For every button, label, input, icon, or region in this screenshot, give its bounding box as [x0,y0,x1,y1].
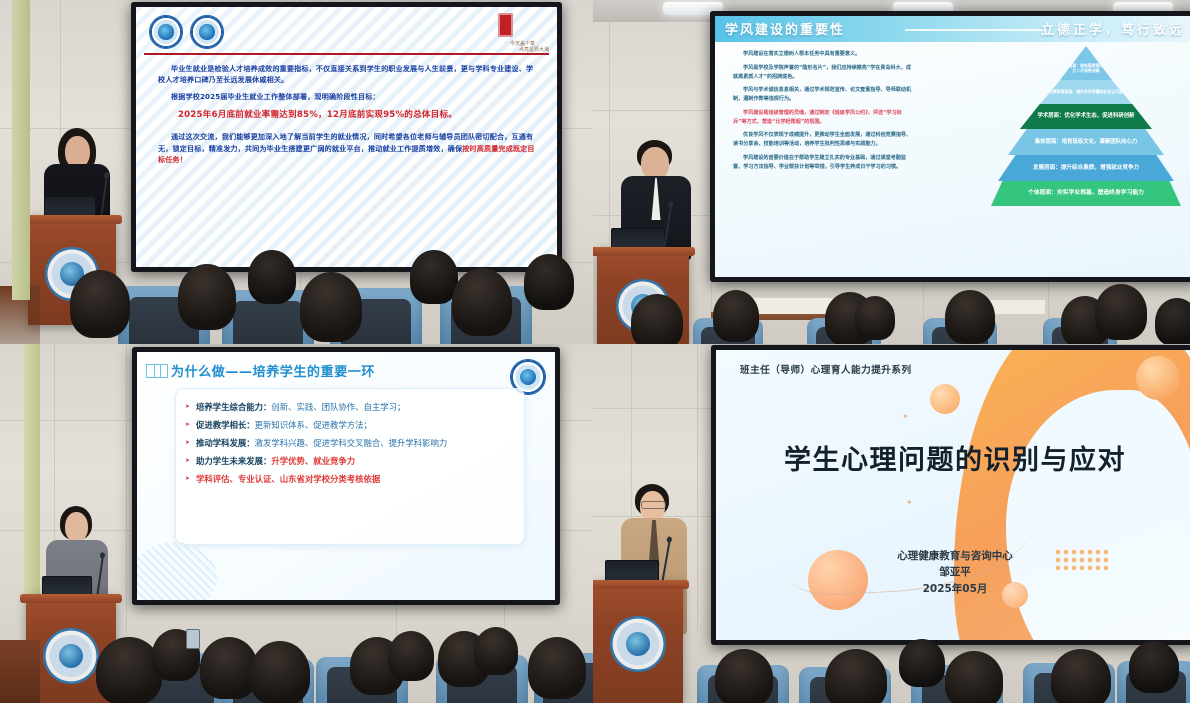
slide1-body: 毕业生就业是检验人才培养成效的重要指标，不仅直接关系到学生的职业发展与人生前景，… [158,63,537,171]
slide1-para-1: 毕业生就业是检验人才培养成效的重要指标，不仅直接关系到学生的职业发展与人生前景，… [158,63,537,86]
podium-top [593,247,695,256]
laptop-screen [605,560,659,582]
photo-collage: 今天盖个章 点亮星辰大海 毕业生就业是检验人才培养成效的重要指标，不仅直接关系到… [0,0,1190,703]
audience-area-4 [593,593,1190,703]
panel-top-left: 今天盖个章 点亮星辰大海 毕业生就业是检验人才培养成效的重要指标，不仅直接关系到… [0,0,593,344]
presenter-laptop-4 [605,560,659,582]
college-logo-icon [190,15,224,49]
decorative-blob [1136,356,1180,400]
slide-why-do-it: 为什么做——培养学生的重要一环 培养学生综合能力：创新、实践、团队协作、自主学习… [137,352,555,600]
pyramid-level-5: 发展层面：提升综合素质，增强就业竞争力 [998,155,1174,181]
audience-head [1155,298,1190,344]
audience-head [524,254,574,310]
pyramid-level-2: 校果院管层面：提升办学质量和社会认可度 [1040,80,1132,104]
bullet-lead: 培养学生综合能力： [196,402,271,412]
eyeglasses-icon [641,501,666,509]
list-item: 学科评估、专业认证、山东省对学校分类考核依据 [196,473,508,486]
audience-head [300,272,362,342]
audience-head [1095,284,1147,340]
panel-bottom-right: ✦ ✦ 班主任（导师）心理育人能力提升系列 学生心理问题的识别与应对 心理健康教… [593,344,1190,703]
podium-top [593,580,689,589]
book-icon [146,364,166,376]
audience-head [248,250,296,304]
bullet-rest: 创新、实践、团队协作、自主学习； [271,402,405,412]
s2-para-2: 学风是学校及学院声誉的“隐形名片”，我们应持续擦亮“学在青岛科大，成就高素质人才… [733,64,913,82]
s2-para-1: 学风建设在落实立德树人根本任务中具有重要意义。 [733,50,913,59]
seal-caption-2: 点亮星辰大海 [519,46,549,53]
banner-motto: 立德正学，笃行致远 [1041,19,1185,38]
decorative-hatch [137,542,217,600]
banner-divider [905,29,1045,31]
slide3-title: 为什么做——培养学生的重要一环 [171,361,375,380]
audience-head [528,637,586,699]
s2-para-3: 学风与学术诚信息息相关，通过学术规范宣传、论文查重指导、导师联动机制，遏制作弊等… [733,86,913,104]
bullet-rest: 更新知识体系、促进教学方法； [255,420,372,430]
red-seal-icon [498,13,513,37]
audience-head [178,264,236,330]
audience-head [1129,641,1179,693]
lecture-hall-room-3: 为什么做——培养学生的重要一环 培养学生综合能力：创新、实践、团队协作、自主学习… [0,344,593,703]
lecture-hall-room-2: 学风建设的重要性 立德正学，笃行致远 学风建设在落实立德树人根本任务中具有重要意… [593,0,1190,344]
audience-head [410,250,458,304]
list-item: 助力学生未来发展：升学优势、就业竞争力 [196,455,508,468]
display-screen-3: 为什么做——培养学生的重要一环 培养学生综合能力：创新、实践、团队协作、自主学习… [132,347,560,605]
audience-area-3 [0,593,593,703]
face [65,512,88,542]
slide2-banner: 学风建设的重要性 立德正学，笃行致远 [715,16,1190,42]
list-item: 推动学科发展：激发学科兴趣、促进学科交叉融合、提升学科影响力 [196,437,508,450]
header-rule [144,53,549,55]
pyramid-level-3: 学术层面：优化学术生态，促进科研创新 [1020,104,1152,129]
slide1-highlight: 2025年6月底前就业率需达到85%，12月底前实现95%的总体目标。 [158,109,537,123]
audience-head [715,649,773,703]
audience-head [945,290,995,344]
audience-head [899,639,945,687]
wall-column [24,344,40,604]
slide4-kicker: 班主任（导师）心理育人能力提升系列 [740,362,912,376]
audience-head [388,631,434,681]
decorative-blob [930,384,960,414]
audience-head [631,294,683,344]
sparkle-icon: ✦ [906,498,913,507]
slide1-para-2: 根据学校2025届毕业生就业工作整体部署，现明确阶段性目标： [158,91,537,102]
panel-bottom-left: 为什么做——培养学生的重要一环 培养学生综合能力：创新、实践、团队协作、自主学习… [0,344,593,703]
audience-head [250,641,310,703]
bullet-list: 培养学生综合能力：创新、实践、团队协作、自主学习； 促进教学相长：更新知识体系、… [176,389,524,486]
slide2-text-column: 学风建设在落实立德树人根本任务中具有重要意义。 学风是学校及学院声誉的“隐形名片… [733,50,913,176]
bullet-lead: 推动学科发展： [196,438,255,448]
panel-top-right: 学风建设的重要性 立德正学，笃行致远 学风建设在落实立德树人根本任务中具有重要意… [593,0,1190,344]
bullet-lead: 促进教学相长： [196,420,255,430]
audience-head [474,627,518,675]
audience-head [1051,649,1111,703]
pyramid-level-1: 战略层面：服务国家需求，助力人才培养战略 [1060,46,1112,80]
bullet-lead: 助力学生未来发展： [196,456,271,466]
lecture-hall-room-1: 今天盖个章 点亮星辰大海 毕业生就业是检验人才培养成效的重要指标，不仅直接关系到… [0,0,593,344]
slide4-credits: 心理健康教育与咨询中心 邹亚平 2025年05月 [716,548,1190,597]
sparkle-icon: ✦ [902,412,909,421]
audience-head [945,651,1003,703]
display-screen-2: 学风建设的重要性 立德正学，笃行致远 学风建设在落实立德树人根本任务中具有重要意… [710,11,1190,282]
org-name: 心理健康教育与咨询中心 [716,548,1190,564]
s2-para-4: 学风建设是班级管理的灵魂，通过制定《班级学风公约》、评选“学习标兵”等方式，营造… [733,109,913,127]
qust-logo-icon [149,15,183,49]
audience-head [825,649,887,703]
audience-head [713,290,759,342]
pyramid-level-6: 个体层面：夯实学业根基，塑造终身学习能力 [991,181,1181,206]
bullet-card: 培养学生综合能力：创新、实践、团队协作、自主学习； 促进教学相长：更新知识体系、… [175,388,525,545]
slide4-title: 学生心理问题的识别与应对 [716,438,1190,477]
slide-academic-style: 学风建设的重要性 立德正学，笃行致远 学风建设在落实立德树人根本任务中具有重要意… [715,16,1190,277]
list-item: 促进教学相长：更新知识体系、促进教学方法； [196,419,508,432]
s2-para-5: 优良学风不仅表现于成绩提升，更推动学生全面发展，通过科创竞赛指导、读书分享会、技… [733,131,913,149]
slide1-closing: 通过这次交流，我们能够更加深入地了解当前学生的就业情况，同时希望各位老师与辅导员… [158,131,537,165]
bullet-rest: 激发学科兴趣、促进学科交叉融合、提升学科影响力 [255,438,448,448]
pyramid-level-4: 集体层面：培育班级文化，凝聚团队向心力 [1008,129,1164,155]
audience-area-2 [593,264,1190,344]
pyramid-diagram: 战略层面：服务国家需求，助力人才培养战略 校果院管层面：提升办学质量和社会认可度… [991,46,1181,206]
podium-top [22,215,122,224]
list-item: 培养学生综合能力：创新、实践、团队协作、自主学习； [196,401,508,414]
slide1-header: 今天盖个章 点亮星辰大海 [136,7,557,53]
lecture-hall-room-4: ✦ ✦ 班主任（导师）心理育人能力提升系列 学生心理问题的识别与应对 心理健康教… [593,344,1190,703]
audience-head [452,268,512,336]
bullet-rest-red: 升学优势、就业竞争力 [271,456,355,466]
banner-title: 学风建设的重要性 [725,19,845,38]
audience-area-1 [0,224,593,344]
speaker-name: 邹亚平 [716,564,1190,580]
audience-head [855,296,895,340]
smartphone [186,629,200,649]
audience-head [70,270,130,338]
s2-para-6: 学风建设的首要价值在于帮助学生建立扎实的专业基础，通过课堂考勤监督、学习方法指导… [733,154,913,172]
